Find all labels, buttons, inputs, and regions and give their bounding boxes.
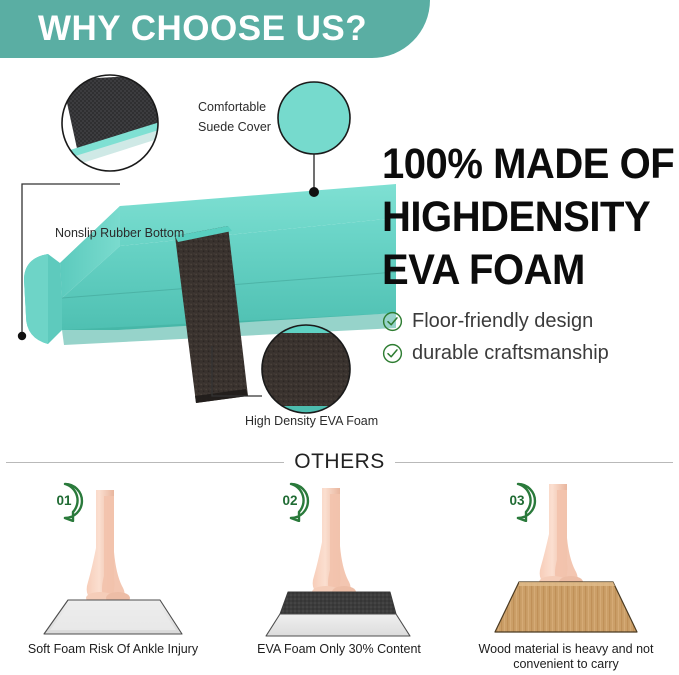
others-divider: OTHERS [0, 448, 679, 476]
headline-line-1: 100% MADE OF [382, 138, 654, 191]
feature-bullet-floor-friendly: Floor-friendly design [382, 310, 674, 333]
others-item-02: 02 EVA Foam Only 30% Content [226, 476, 452, 675]
step-badge-number: 03 [499, 482, 535, 518]
step-badge-number: 01 [46, 482, 82, 518]
soft-foam-scene [0, 482, 226, 642]
headline-line-2: HIGHDENSITY [382, 191, 654, 244]
others-divider-title: OTHERS [294, 450, 385, 474]
wood-board-scene [453, 482, 679, 642]
step-badge-01: 01 [46, 482, 86, 522]
eva-layer-mat [266, 592, 410, 636]
step-badge-02: 02 [272, 482, 312, 522]
divider-rule-left [6, 462, 284, 463]
check-circle-icon [382, 343, 403, 364]
feature-bullet-durable: durable craftsmanship [382, 342, 674, 365]
page-title: WHY CHOOSE US? [0, 9, 367, 49]
feet-graphic [539, 484, 583, 588]
feature-bullet-label: Floor-friendly design [412, 310, 593, 333]
feet-graphic [86, 490, 130, 604]
callout-label-nonslip: Nonslip Rubber Bottom [55, 226, 184, 240]
header-banner: WHY CHOOSE US? [0, 0, 430, 58]
feature-bullet-list: Floor-friendly design durable craftsmans… [382, 310, 674, 374]
others-caption-03-line1: Wood material is heavy and [479, 642, 633, 656]
step-badge-number: 02 [272, 482, 308, 518]
others-item-03: 03 Wood material is heavy and not conven… [453, 476, 679, 675]
step-badge-03: 03 [499, 482, 539, 522]
callout-suede-cover [278, 82, 350, 197]
others-caption-01: Soft Foam Risk Of Ankle Injury [8, 642, 218, 657]
callout-label-suede-line1: Comfortable [198, 100, 266, 114]
headline-line-3: EVA FOAM [382, 244, 654, 297]
feature-bullet-label: durable craftsmanship [412, 342, 609, 365]
eva-layer-scene [226, 482, 452, 642]
feet-graphic [312, 488, 356, 598]
hero-section: Nonslip Rubber Bottom Comfortable Suede … [0, 58, 679, 440]
wood-board [495, 582, 637, 632]
others-comparison: 01 Soft Foam Risk Of Ankle Injury [0, 476, 679, 675]
infographic-page: WHY CHOOSE US? [0, 0, 679, 675]
others-item-01: 01 Soft Foam Risk Of Ankle Injury [0, 476, 226, 675]
soft-foam-mat [44, 600, 182, 634]
headline-block: 100% MADE OF HIGHDENSITY EVA FOAM [382, 138, 674, 297]
others-caption-02: EVA Foam Only 30% Content [234, 642, 444, 657]
check-circle-icon [382, 311, 403, 332]
others-caption-03: Wood material is heavy and not convenien… [461, 642, 671, 672]
callout-label-suede-line2: Suede Cover [198, 120, 271, 134]
callout-label-eva-foam: High Density EVA Foam [245, 414, 378, 428]
divider-rule-right [395, 462, 673, 463]
